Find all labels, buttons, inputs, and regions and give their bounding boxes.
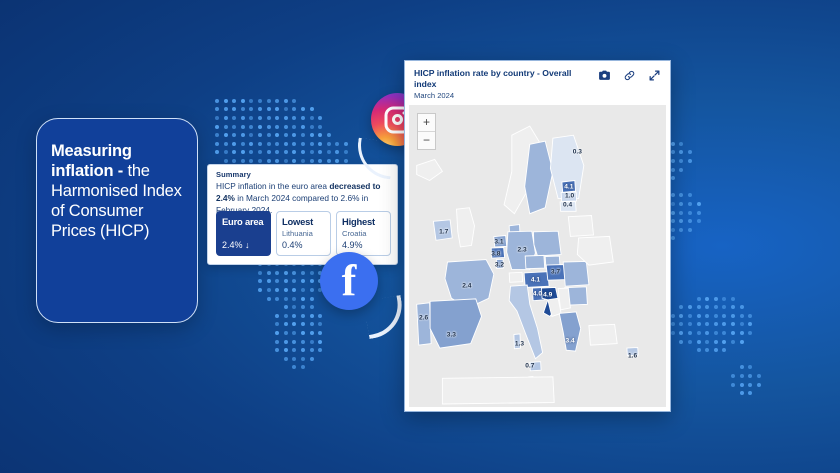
map-country-romania[interactable]: [563, 261, 589, 286]
europe-choropleth: [409, 105, 666, 407]
map-country-poland[interactable]: [533, 231, 561, 256]
map-label-france: 2.4: [462, 283, 471, 290]
map-country-portugal[interactable]: [417, 303, 431, 345]
map-label-estonia: 4.1: [564, 183, 573, 190]
map-canvas[interactable]: + − 0.34.11.00.41.73.13.83.22.32.44.13.7…: [409, 105, 666, 407]
stat-name: Euro area: [222, 216, 263, 227]
map-label-croatia: 4.9: [543, 292, 552, 299]
summary-label: Summary: [216, 170, 251, 179]
page-title: Measuring inflation - the Harmonised Ind…: [51, 141, 187, 241]
page-title-bold: Measuring inflation -: [51, 142, 132, 180]
map-country-serbia[interactable]: [558, 288, 570, 310]
map-label-italy: 1.3: [515, 340, 524, 347]
map-country-ukraine[interactable]: [577, 236, 613, 265]
zoom-out-button[interactable]: −: [418, 132, 435, 149]
stat-card-euro-area: Euro area2.4% ↓: [216, 211, 271, 256]
stat-country: Lithuania: [282, 229, 313, 238]
map-label-netherlands: 3.1: [494, 238, 503, 245]
map-label-lithuania: 0.4: [563, 201, 572, 208]
expand-icon[interactable]: [648, 69, 661, 82]
facebook-glyph: f: [342, 259, 357, 303]
map-country-spain[interactable]: [430, 299, 481, 348]
map-label-ireland: 1.7: [439, 228, 448, 235]
map-label-slovenia: 4.0: [533, 290, 542, 297]
map-date: March 2024: [414, 91, 454, 100]
link-icon[interactable]: [623, 69, 636, 82]
map-label-latvia: 1.0: [565, 192, 574, 199]
map-label-germany: 2.3: [517, 246, 526, 253]
stat-name: Highest: [342, 216, 375, 227]
stat-card-row: Euro area2.4% ↓LowestLithuania0.4%Highes…: [216, 211, 391, 256]
zoom-in-button[interactable]: +: [418, 114, 435, 132]
map-country-belarus[interactable]: [568, 216, 593, 237]
stat-value: 2.4% ↓: [222, 240, 250, 250]
map-label-spain: 3.3: [447, 331, 456, 338]
map-country-uk[interactable]: [457, 208, 475, 247]
title-card: Measuring inflation - the Harmonised Ind…: [36, 118, 198, 323]
map-country-turkeyw[interactable]: [589, 324, 617, 345]
map-label-portugal: 2.6: [419, 314, 428, 321]
stat-card-highest: HighestCroatia4.9%: [336, 211, 391, 256]
slide-canvas: Measuring inflation - the Harmonised Ind…: [0, 0, 840, 473]
stat-name: Lowest: [282, 216, 313, 227]
map-label-austria: 4.1: [531, 277, 540, 284]
map-panel: HICP inflation rate by country - Overall…: [404, 60, 671, 412]
map-country-africa[interactable]: [442, 377, 554, 404]
map-label-greece: 3.4: [566, 337, 575, 344]
map-label-hungary: 3.7: [551, 268, 560, 275]
summary-text-part1: HICP inflation in the euro area: [216, 181, 329, 191]
summary-card: Summary HICP inflation in the euro area …: [207, 164, 398, 265]
stat-card-lowest: LowestLithuania0.4%: [276, 211, 331, 256]
map-label-finland: 0.3: [573, 148, 582, 155]
stat-country: Croatia: [342, 229, 366, 238]
map-zoom-controls: + −: [417, 113, 436, 150]
map-label-luxembourg: 3.2: [495, 262, 504, 269]
map-toolbar: [598, 69, 661, 82]
map-label-cyprus: 1.6: [628, 352, 637, 359]
map-label-malta: 0.7: [525, 363, 534, 370]
map-label-belgium: 3.8: [491, 250, 500, 257]
camera-icon[interactable]: [598, 69, 611, 82]
map-country-greece[interactable]: [559, 312, 580, 351]
stat-value: 0.4%: [282, 240, 303, 250]
map-country-iceland[interactable]: [417, 159, 443, 180]
map-country-sweden[interactable]: [525, 141, 553, 214]
map-country-czechia[interactable]: [525, 255, 545, 268]
map-country-switzerland[interactable]: [509, 272, 522, 282]
map-title: HICP inflation rate by country - Overall…: [414, 68, 584, 89]
stat-value: 4.9%: [342, 240, 363, 250]
